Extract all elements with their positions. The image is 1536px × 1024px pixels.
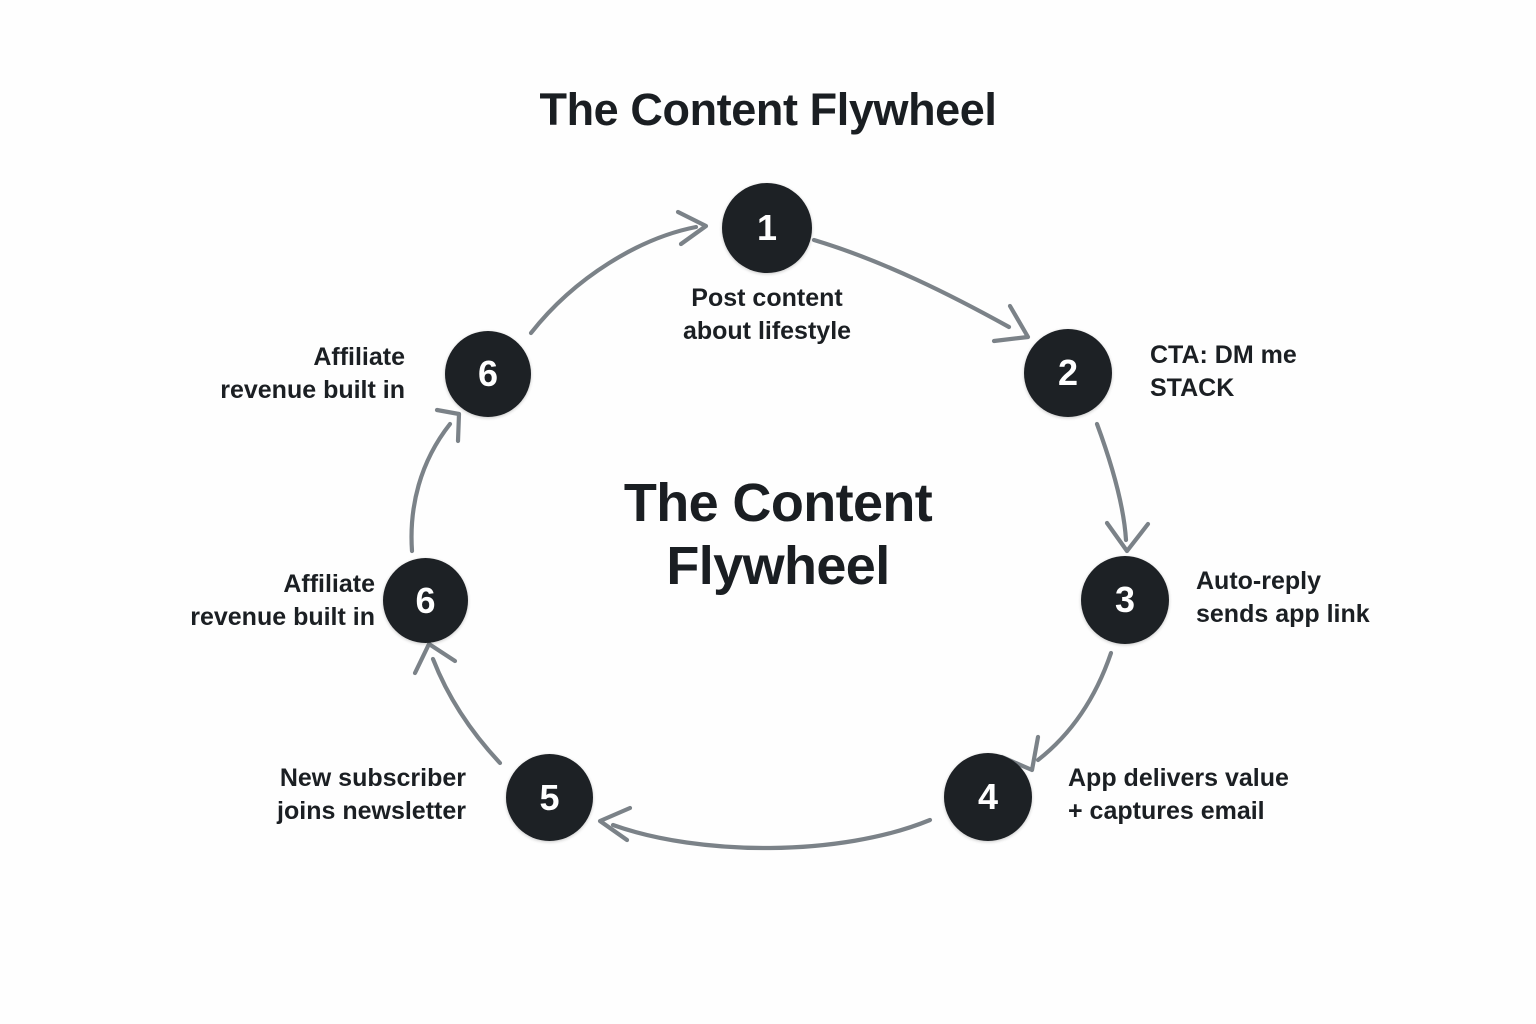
node-label-3-line1: Auto-reply: [1196, 565, 1536, 598]
node-label-3-line2: sends app link: [1196, 598, 1536, 631]
node-label-2-line2: STACK: [1150, 372, 1490, 405]
node-number-1: 1: [757, 210, 777, 246]
node-label-3: Auto-reply sends app link: [1196, 565, 1536, 631]
flywheel-diagram-canvas: The Content Flywheel: [0, 0, 1536, 1024]
node-label-2: CTA: DM me STACK: [1150, 339, 1490, 405]
arrowhead-to-2: [994, 306, 1028, 341]
node-label-6-lower-line2: revenue built in: [30, 601, 375, 634]
arrowhead-to-6upper: [437, 410, 459, 441]
node-label-6-upper: Affiliate revenue built in: [60, 341, 405, 407]
node-circle-4[interactable]: 4: [944, 753, 1032, 841]
node-label-4-line2: + captures email: [1068, 795, 1468, 828]
node-label-6-lower-line1: Affiliate: [30, 568, 375, 601]
node-number-3: 3: [1115, 582, 1135, 618]
node-circle-5[interactable]: 5: [506, 754, 593, 841]
node-label-5: New subscriber joins newsletter: [80, 762, 466, 828]
node-number-5: 5: [539, 780, 559, 816]
node-circle-2[interactable]: 2: [1024, 329, 1112, 417]
arrowhead-to-6lower: [415, 644, 455, 673]
center-label-line2: Flywheel: [568, 535, 988, 598]
node-label-6-upper-line1: Affiliate: [60, 341, 405, 374]
node-circle-1[interactable]: 1: [722, 183, 812, 273]
arc-2-to-3: [1097, 424, 1126, 540]
arc-4-to-5: [613, 820, 930, 848]
node-label-1-line2: about lifestyle: [597, 315, 937, 348]
node-label-6-lower: Affiliate revenue built in: [30, 568, 375, 634]
node-label-4: App delivers value + captures email: [1068, 762, 1468, 828]
node-label-4-line1: App delivers value: [1068, 762, 1468, 795]
arrowhead-to-1: [678, 212, 706, 244]
arc-5-to-6lower: [433, 659, 500, 763]
node-label-5-line2: joins newsletter: [80, 795, 466, 828]
arc-6lower-to-6upper: [412, 424, 450, 551]
center-label-line1: The Content: [568, 472, 988, 535]
node-number-6-upper: 6: [478, 356, 498, 392]
node-label-2-line1: CTA: DM me: [1150, 339, 1490, 372]
arc-3-to-4: [1038, 653, 1111, 760]
arrowhead-to-5: [600, 808, 630, 840]
node-label-1-line1: Post content: [597, 282, 937, 315]
node-number-6-lower: 6: [415, 583, 435, 619]
node-circle-6-upper[interactable]: 6: [445, 331, 531, 417]
node-label-6-upper-line2: revenue built in: [60, 374, 405, 407]
arrowhead-to-3: [1107, 523, 1148, 551]
node-circle-6-lower[interactable]: 6: [383, 558, 468, 643]
node-number-4: 4: [978, 779, 998, 815]
node-circle-3[interactable]: 3: [1081, 556, 1169, 644]
node-number-2: 2: [1058, 355, 1078, 391]
node-label-1: Post content about lifestyle: [597, 282, 937, 348]
page-title: The Content Flywheel: [0, 86, 1536, 133]
center-label: The Content Flywheel: [568, 472, 988, 597]
node-label-5-line1: New subscriber: [80, 762, 466, 795]
